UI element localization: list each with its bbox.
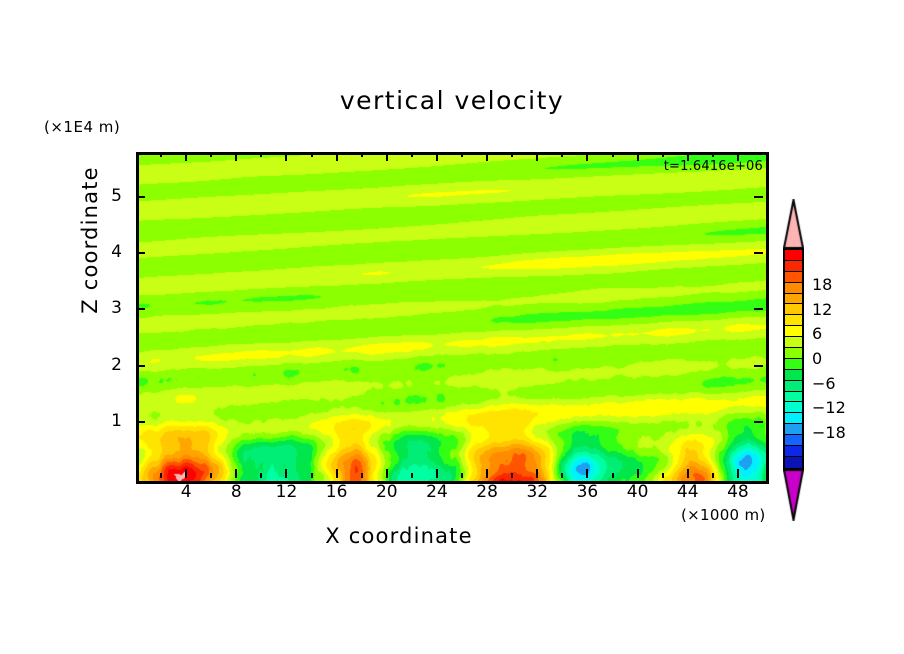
x-tick-top — [486, 152, 488, 161]
x-minor-tick — [210, 473, 212, 478]
x-minor-tick — [662, 152, 664, 157]
colorbar-band — [785, 337, 802, 348]
x-tick-bot — [285, 469, 287, 478]
x-tick-label: 12 — [266, 482, 306, 502]
y-tick-label: 4 — [96, 242, 122, 262]
x-tick-label: 20 — [367, 482, 407, 502]
x-tick-top — [386, 152, 388, 161]
x-minor-tick — [561, 152, 563, 157]
x-tick-top — [185, 152, 187, 161]
x-tick-top — [336, 152, 338, 161]
x-minor-tick — [712, 152, 714, 157]
colorbar-tick-label: 18 — [812, 275, 832, 294]
x-axis-title: X coordinate — [0, 524, 904, 548]
page-title: vertical velocity — [0, 86, 904, 115]
colorbar-band — [785, 272, 802, 283]
y-tick-r — [754, 308, 763, 310]
x-axis-unit-label: (×1000 m) — [681, 506, 766, 524]
x-tick-top — [536, 152, 538, 161]
x-minor-tick — [411, 473, 413, 478]
colorbar-band — [785, 348, 802, 359]
x-tick-bot — [336, 469, 338, 478]
x-tick-label: 48 — [718, 482, 758, 502]
x-tick-top — [637, 152, 639, 161]
colorbar-band — [785, 392, 802, 403]
x-minor-tick — [160, 473, 162, 478]
x-minor-tick — [712, 473, 714, 478]
colorbar-tick-label: 0 — [812, 349, 822, 368]
plot-area: t=1.6416e+06 — [136, 152, 769, 484]
x-minor-tick — [612, 152, 614, 157]
colorbar-band — [785, 250, 802, 261]
y-tick-l — [136, 196, 145, 198]
x-axis-title-text: X coordinate — [325, 524, 472, 548]
y-tick-r — [754, 196, 763, 198]
colorbar-band — [785, 359, 802, 370]
x-tick-bot — [536, 469, 538, 478]
colorbar-band — [785, 457, 802, 468]
x-minor-tick — [361, 473, 363, 478]
x-tick-label: 8 — [216, 482, 256, 502]
x-tick-label: 36 — [567, 482, 607, 502]
y-tick-label: 1 — [96, 411, 122, 431]
y-tick-r — [754, 252, 763, 254]
y-tick-r — [754, 365, 763, 367]
x-minor-tick — [311, 152, 313, 157]
x-minor-tick — [511, 473, 513, 478]
x-tick-bot — [687, 469, 689, 478]
colorbar-band — [785, 424, 802, 435]
x-tick-top — [285, 152, 287, 161]
x-tick-label: 24 — [417, 482, 457, 502]
x-tick-label: 40 — [618, 482, 658, 502]
x-tick-top — [586, 152, 588, 161]
x-tick-bot — [185, 469, 187, 478]
colorbar-tick-label: 12 — [812, 300, 832, 319]
x-tick-bot — [586, 469, 588, 478]
colorbar-tick-label: −12 — [812, 398, 846, 417]
x-minor-tick — [461, 152, 463, 157]
x-tick-bot — [436, 469, 438, 478]
colorbar-overflow-high-arrow — [783, 199, 804, 248]
colorbar-band — [785, 413, 802, 424]
x-tick-label: 32 — [517, 482, 557, 502]
x-tick-bot — [386, 469, 388, 478]
x-tick-top — [436, 152, 438, 161]
x-minor-tick — [612, 473, 614, 478]
x-tick-bot — [737, 469, 739, 478]
x-tick-label: 28 — [467, 482, 507, 502]
colorbar-band — [785, 315, 802, 326]
x-minor-tick — [561, 473, 563, 478]
colorbar-band — [785, 326, 802, 337]
x-minor-tick — [210, 152, 212, 157]
x-tick-bot — [235, 469, 237, 478]
colorbar-band — [785, 381, 802, 392]
y-tick-l — [136, 421, 145, 423]
colorbar-overflow-low-arrow — [783, 470, 804, 521]
x-minor-tick — [160, 152, 162, 157]
x-minor-tick — [260, 473, 262, 478]
x-minor-tick — [361, 152, 363, 157]
colorbar-band — [785, 261, 802, 272]
x-tick-bot — [637, 469, 639, 478]
colorbar-tick-label: 6 — [812, 324, 822, 343]
figure: vertical velocity (×1E4 m) (×1000 m) Z c… — [0, 0, 904, 654]
y-axis-unit-label: (×1E4 m) — [44, 118, 120, 136]
x-tick-bot — [486, 469, 488, 478]
x-tick-label: 16 — [317, 482, 357, 502]
x-minor-tick — [311, 473, 313, 478]
overflow-low-triangle — [783, 470, 804, 521]
colorbar-band — [785, 294, 802, 305]
colorbar — [783, 248, 804, 470]
y-tick-label: 5 — [96, 186, 122, 206]
y-tick-label: 3 — [96, 298, 122, 318]
x-tick-label: 44 — [668, 482, 708, 502]
overflow-high-triangle — [783, 199, 804, 248]
colorbar-band — [785, 402, 802, 413]
x-minor-tick — [662, 473, 664, 478]
y-tick-l — [136, 252, 145, 254]
colorbar-tick-label: −6 — [812, 374, 836, 393]
colorbar-band — [785, 370, 802, 381]
colorbar-tick-label: −18 — [812, 423, 846, 442]
y-tick-label: 2 — [96, 355, 122, 375]
x-minor-tick — [461, 473, 463, 478]
y-tick-r — [754, 421, 763, 423]
colorbar-band — [785, 435, 802, 446]
colorbar-band — [785, 283, 802, 294]
time-annotation: t=1.6416e+06 — [664, 159, 763, 174]
colorbar-band — [785, 304, 802, 315]
x-minor-tick — [511, 152, 513, 157]
x-tick-top — [235, 152, 237, 161]
x-tick-label: 4 — [166, 482, 206, 502]
colorbar-band — [785, 446, 802, 457]
contour-field — [139, 155, 766, 481]
x-minor-tick — [260, 152, 262, 157]
y-tick-l — [136, 308, 145, 310]
x-minor-tick — [411, 152, 413, 157]
y-tick-l — [136, 365, 145, 367]
